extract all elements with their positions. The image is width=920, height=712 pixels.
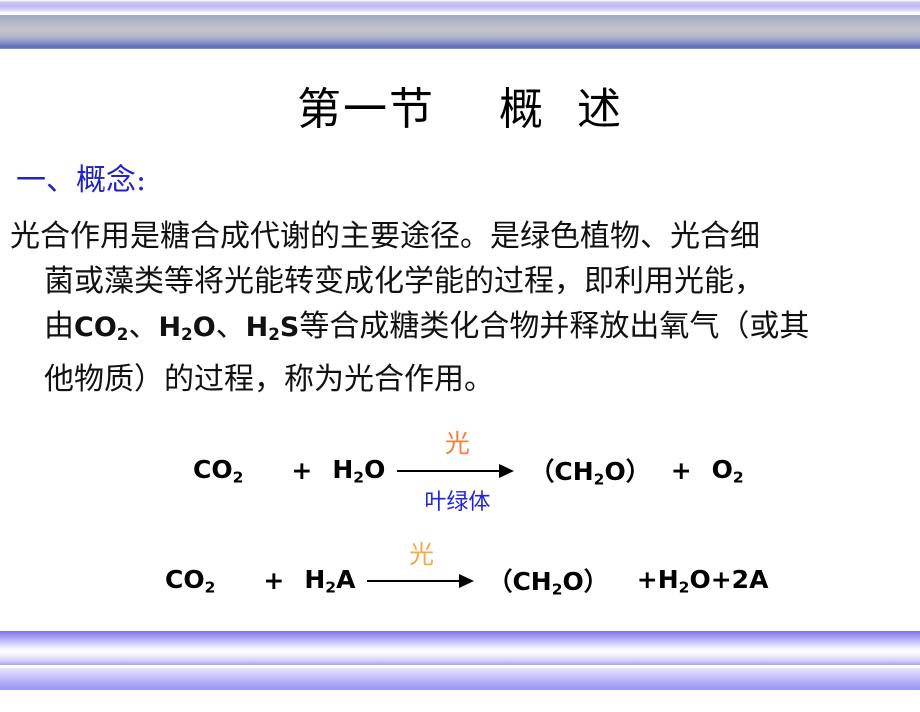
formula-separator-2: 、 <box>216 309 246 344</box>
formula-co2: CO2 <box>74 312 128 343</box>
eq2-arrow-head <box>459 574 474 588</box>
eq1-product-o2: O2 <box>712 455 744 487</box>
eq1-plus-2: + <box>671 456 692 485</box>
eq1-reactant-h2o: H2O <box>332 455 385 487</box>
eq1-arrow-label-chloroplast: 叶绿体 <box>389 484 525 516</box>
body-line-3: 由CO2、H2O、H2S等合成糖类化合物并释放出氧气（或其 <box>10 304 916 357</box>
equation-2: CO2 + H2A 光 （CH2O） +H2O+2A <box>165 562 768 599</box>
body-line-3-prefix: 由 <box>44 309 74 344</box>
bottom-decoration-band-secondary <box>0 668 920 690</box>
body-line-4: 他物质）的过程，称为光合作用。 <box>10 357 916 402</box>
formula-h2o: H2O <box>158 312 215 343</box>
section-heading: 一、概念: <box>16 166 146 196</box>
eq2-product-ch2o: （CH2O） <box>487 562 608 599</box>
eq1-arrow-shaft <box>397 470 501 472</box>
body-paragraph: 光合作用是糖合成代谢的主要途径。是绿色植物、光合细 菌或藻类等将光能转变成化学能… <box>10 214 916 402</box>
eq2-plus-1: + <box>263 566 284 595</box>
body-line-3-suffix: 等合成糖类化合物并释放出氧气（或其 <box>299 309 809 344</box>
bottom-decoration-band-primary <box>0 631 920 665</box>
eq2-product-water-and-a: +H2O+2A <box>637 565 769 597</box>
eq1-plus-1: + <box>291 456 312 485</box>
body-line-1: 光合作用是糖合成代谢的主要途径。是绿色植物、光合细 <box>10 214 916 259</box>
top-decoration-band-steel <box>0 15 920 47</box>
equation-1: CO2 + H2O 光 叶绿体 （CH2O） + O2 <box>193 452 744 489</box>
slide-title: 第一节 概 述 <box>0 88 920 132</box>
body-line-2: 菌或藻类等将光能转变成化学能的过程，即利用光能， <box>10 259 916 304</box>
eq1-arrow-label-light: 光 <box>397 424 517 460</box>
eq1-product-ch2o: （CH2O） <box>529 452 650 489</box>
eq2-reaction-arrow: 光 <box>367 567 475 593</box>
eq2-reactant-co2: CO2 <box>165 565 215 597</box>
eq1-arrow-head <box>499 464 514 478</box>
top-decoration-band-light <box>0 0 920 13</box>
eq1-reaction-arrow: 光 叶绿体 <box>397 457 517 483</box>
eq1-reactant-co2: CO2 <box>193 455 243 487</box>
formula-h2s: H2S <box>246 312 300 343</box>
eq2-arrow-shaft <box>367 580 461 582</box>
eq2-reactant-h2a: H2A <box>304 565 355 597</box>
formula-separator-1: 、 <box>128 309 158 344</box>
eq2-arrow-label-light: 光 <box>367 535 475 571</box>
